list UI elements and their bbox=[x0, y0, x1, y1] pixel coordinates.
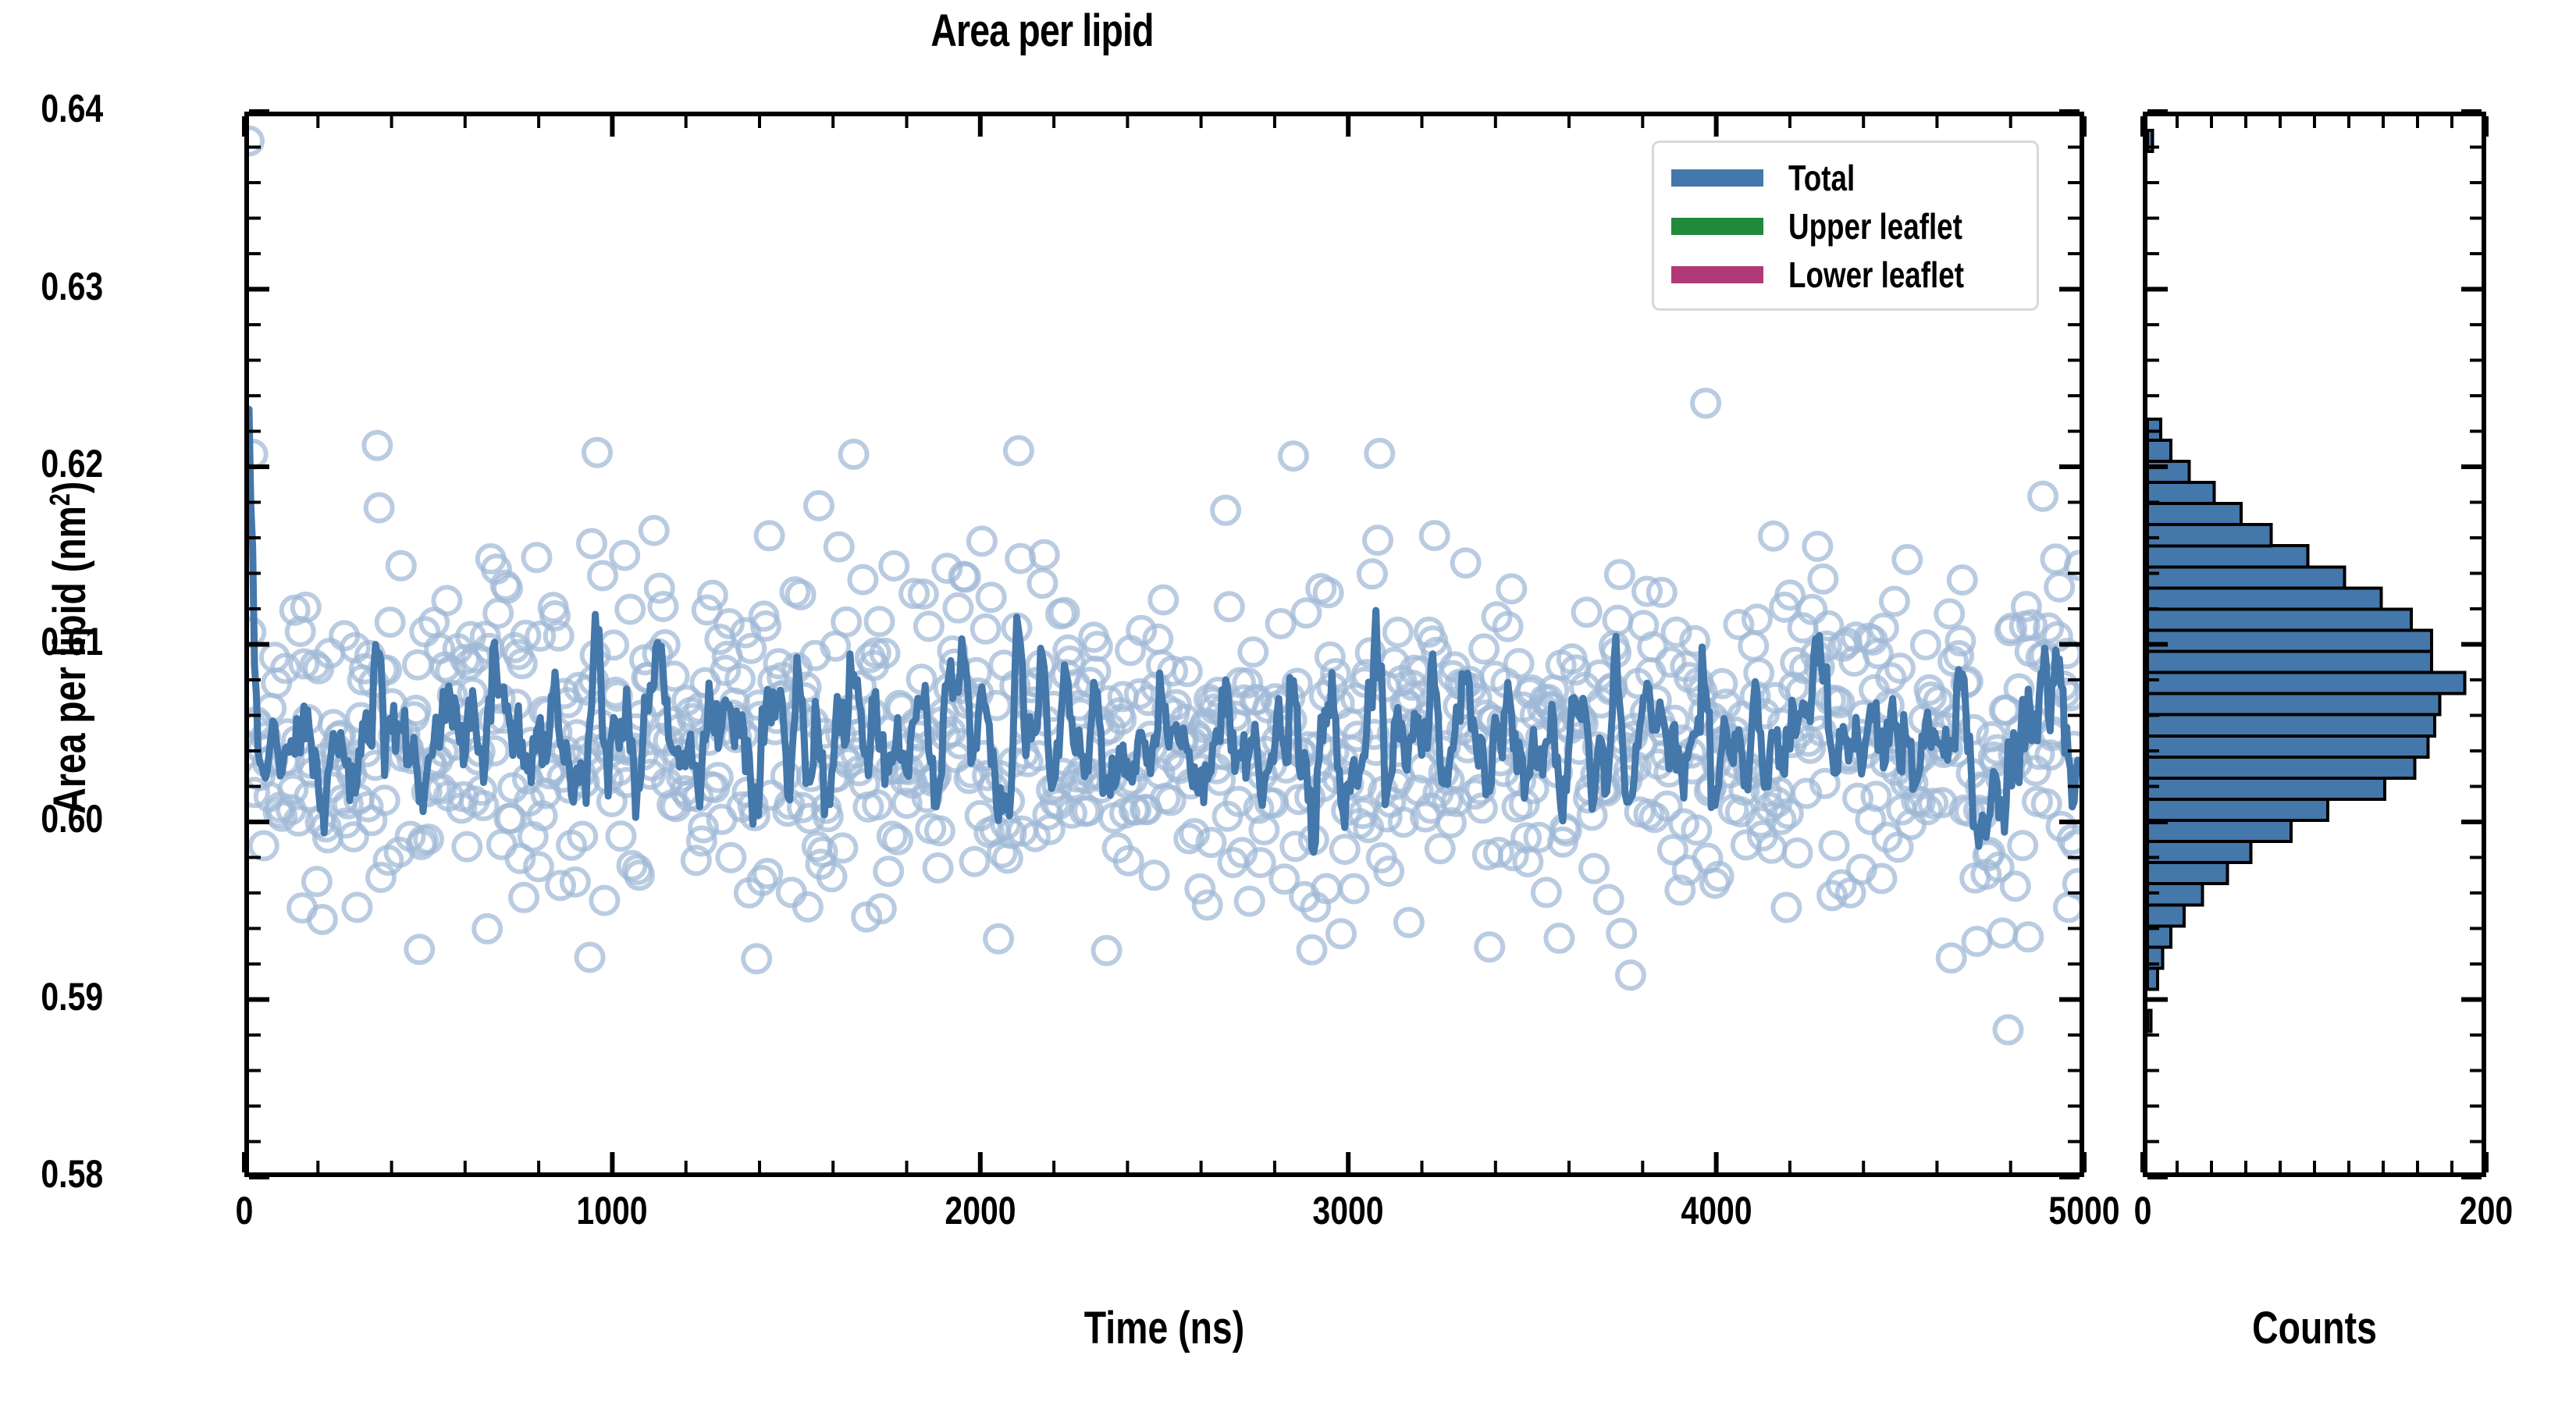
x-tick-label: 0 bbox=[142, 1188, 347, 1233]
legend-item-total: Total bbox=[1671, 154, 2021, 202]
figure-canvas: Area per lipid 0.640.630.620.610.600.590… bbox=[0, 0, 2576, 1405]
x-tick-label: 1000 bbox=[510, 1188, 714, 1233]
legend-swatch-lower-leaflet bbox=[1671, 266, 1763, 283]
histogram-bars-group bbox=[2147, 130, 2465, 1032]
histogram-x-tick-label: 0 bbox=[2073, 1188, 2213, 1233]
legend-label-upper-leaflet: Upper leaflet bbox=[1788, 205, 1962, 247]
legend-label-lower-leaflet: Lower leaflet bbox=[1788, 254, 1964, 296]
x-tick-label: 4000 bbox=[1614, 1188, 1818, 1233]
legend-label-total: Total bbox=[1788, 157, 1855, 199]
y-axis-title: Area per lipid (nm2) bbox=[44, 222, 96, 1074]
histogram-x-tick-label: 200 bbox=[2416, 1188, 2556, 1233]
y-axis-title-suffix: ) bbox=[44, 482, 95, 493]
legend-item-lower-leaflet: Lower leaflet bbox=[1671, 251, 2021, 299]
legend-swatch-total bbox=[1671, 169, 1763, 187]
histogram-axes bbox=[2143, 112, 2486, 1177]
legend-swatch-upper-leaflet bbox=[1671, 218, 1763, 235]
legend-item-upper-leaflet: Upper leaflet bbox=[1671, 202, 2021, 251]
x-tick-label: 2000 bbox=[878, 1188, 1083, 1233]
y-axis-title-superscript: 2 bbox=[44, 493, 76, 506]
page-title: Area per lipid bbox=[208, 5, 1876, 57]
y-axis-title-prefix: Area per lipid (nm bbox=[44, 506, 95, 813]
histogram-svg bbox=[2147, 116, 2482, 1172]
legend: Total Upper leaflet Lower leaflet bbox=[1652, 140, 2039, 311]
x-tick-label: 3000 bbox=[1246, 1188, 1450, 1233]
y-tick-label: 0.64 bbox=[41, 86, 227, 131]
x-axis-title: Time (ns) bbox=[429, 1302, 1901, 1354]
histogram-x-axis-title: Counts bbox=[2177, 1302, 2452, 1354]
